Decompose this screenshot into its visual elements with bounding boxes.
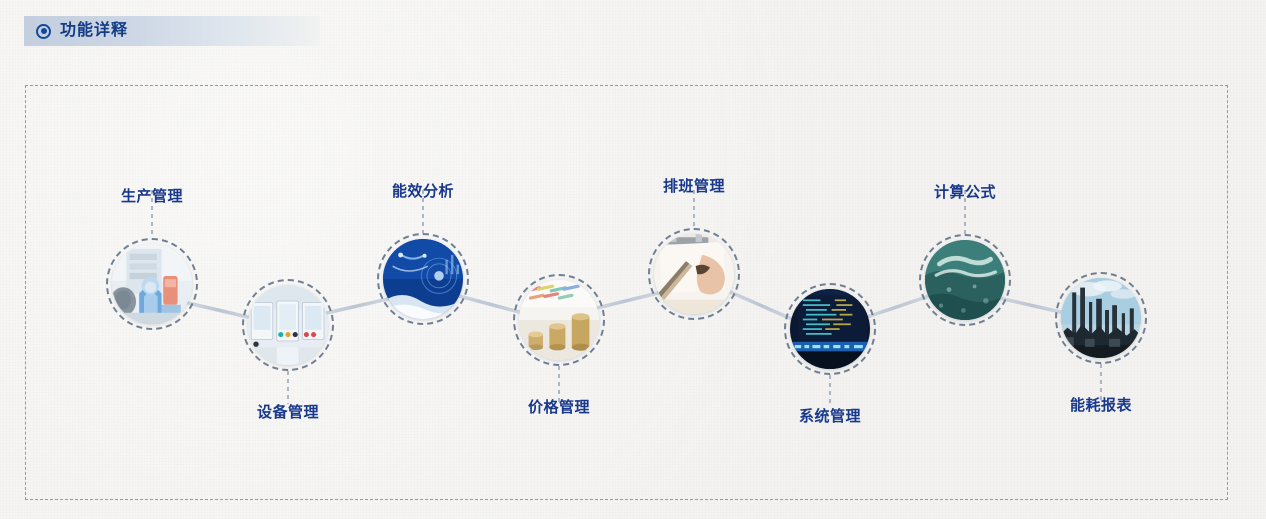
flow-node-label: 计算公式 — [934, 185, 996, 200]
flow-node-price[interactable]: 价格管理 — [513, 274, 605, 366]
flow-node-label: 能效分析 — [392, 184, 454, 199]
node-ring — [1055, 272, 1147, 364]
flow-node-label: 设备管理 — [257, 405, 319, 420]
data-analytics-photo — [383, 239, 463, 319]
flow-node-label: 能耗报表 — [1070, 398, 1132, 413]
node-ring — [106, 238, 198, 330]
process-flow-diagram: 生产管理 — [0, 0, 1266, 519]
flow-node-system[interactable]: 系统管理 — [784, 283, 876, 375]
flow-node-formula[interactable]: 计算公式 — [919, 234, 1011, 326]
flow-node-equipment[interactable]: 设备管理 — [242, 279, 334, 371]
flow-node-label: 排班管理 — [663, 179, 725, 194]
factory-worker-photo — [112, 244, 192, 324]
refinery-stacks-photo — [1061, 278, 1141, 358]
node-ring — [513, 274, 605, 366]
node-ring — [919, 234, 1011, 326]
flow-node-label: 生产管理 — [121, 189, 183, 204]
node-ring — [648, 228, 740, 320]
clipboard-writing-photo — [654, 234, 734, 314]
flow-node-efficiency[interactable]: 能效分析 — [377, 233, 469, 325]
node-ring — [784, 283, 876, 375]
flow-node-label: 价格管理 — [528, 400, 590, 415]
flow-node-report[interactable]: 能耗报表 — [1055, 272, 1147, 364]
flow-node-shift[interactable]: 排班管理 — [648, 228, 740, 320]
node-ring — [377, 233, 469, 325]
aerial-terrain-photo — [925, 240, 1005, 320]
code-terminal-photo — [790, 289, 870, 369]
flow-node-production[interactable]: 生产管理 — [106, 238, 198, 330]
node-ring — [242, 279, 334, 371]
flow-node-label: 系统管理 — [799, 409, 861, 424]
control-panels-photo — [248, 285, 328, 365]
coin-stacks-photo — [519, 280, 599, 360]
